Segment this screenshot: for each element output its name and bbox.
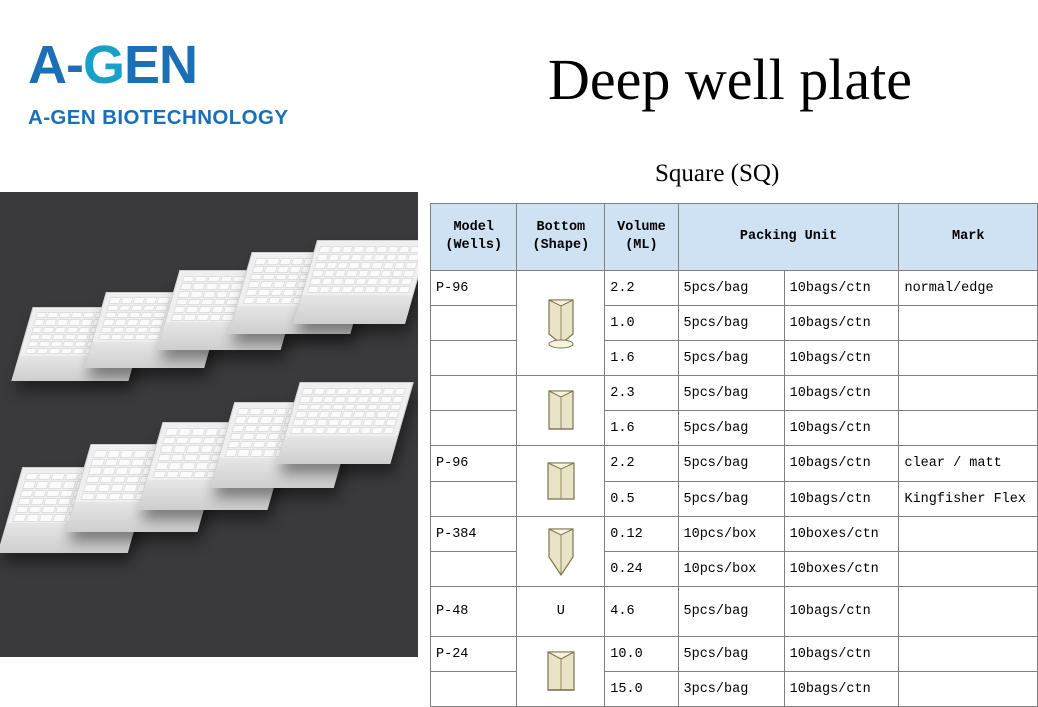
cell-packing-secondary: 10bags/ctn — [784, 306, 899, 341]
cell-volume: 2.2 — [605, 271, 678, 306]
cell-bottom-shape — [517, 637, 605, 707]
table-row: P-962.25pcs/bag10bags/ctnclear / matt — [431, 446, 1038, 482]
column-header-volume: Volume (ML) — [605, 204, 678, 271]
cell-packing-secondary: 10bags/ctn — [784, 341, 899, 376]
cell-mark: clear / matt — [899, 446, 1038, 482]
table-row: P-2410.05pcs/bag10bags/ctn — [431, 637, 1038, 672]
specification-table: Model (Wells) Bottom (Shape) Volume (ML)… — [430, 203, 1038, 707]
cell-packing-primary: 5pcs/bag — [678, 411, 784, 446]
cell-packing-secondary: 10boxes/ctn — [784, 517, 899, 552]
table-header-row: Model (Wells) Bottom (Shape) Volume (ML)… — [431, 204, 1038, 271]
cell-packing-secondary: 10bags/ctn — [784, 637, 899, 672]
cell-bottom-shape — [517, 376, 605, 446]
cell-mark — [899, 341, 1038, 376]
cell-mark — [899, 306, 1038, 341]
cell-model — [431, 672, 517, 707]
cell-model — [431, 306, 517, 341]
cell-model: P-48 — [431, 587, 517, 637]
cell-packing-primary: 10pcs/box — [678, 552, 784, 587]
page-subtitle: Square (SQ) — [655, 160, 779, 188]
column-header-packing-unit: Packing Unit — [678, 204, 899, 271]
logo-letters-en: EN — [124, 35, 197, 95]
cell-bottom-shape — [517, 446, 605, 517]
cell-packing-secondary: 10bags/ctn — [784, 482, 899, 517]
cell-bottom-shape — [517, 271, 605, 376]
cell-volume: 1.0 — [605, 306, 678, 341]
cell-mark — [899, 587, 1038, 637]
cell-model — [431, 482, 517, 517]
plate-wells — [307, 246, 418, 294]
cell-bottom-shape-u: U — [517, 587, 605, 637]
logo-subtitle: A-GEN BIOTECHNOLOGY — [28, 106, 358, 130]
plate-skirt — [278, 436, 398, 463]
column-header-volume-line1: Volume — [610, 219, 672, 237]
cell-packing-primary: 5pcs/bag — [678, 587, 784, 637]
cell-packing-secondary: 10bags/ctn — [784, 271, 899, 306]
square-tall-icon — [540, 644, 582, 700]
square-clear-icon — [540, 455, 582, 507]
cell-volume: 1.6 — [605, 411, 678, 446]
column-header-model-line2: (Wells) — [436, 237, 511, 255]
cell-mark — [899, 672, 1038, 707]
table-header: Model (Wells) Bottom (Shape) Volume (ML)… — [431, 204, 1038, 271]
cell-packing-primary: 5pcs/bag — [678, 306, 784, 341]
cell-model: P-384 — [431, 517, 517, 552]
cell-packing-secondary: 10bags/ctn — [784, 411, 899, 446]
square-flat-icon — [541, 385, 581, 437]
table-row: P-48U4.65pcs/bag10bags/ctn — [431, 587, 1038, 637]
cell-volume: 15.0 — [605, 672, 678, 707]
cell-mark — [899, 517, 1038, 552]
cell-volume: 10.0 — [605, 637, 678, 672]
square-v-icon — [542, 523, 580, 581]
cell-packing-primary: 5pcs/bag — [678, 446, 784, 482]
logo-dash: - — [66, 35, 83, 95]
cell-volume: 2.2 — [605, 446, 678, 482]
cell-volume: 2.3 — [605, 376, 678, 411]
cell-packing-secondary: 10bags/ctn — [784, 376, 899, 411]
cell-mark — [899, 411, 1038, 446]
column-header-model-line1: Model — [436, 219, 511, 237]
table-body: P-962.25pcs/bag10bags/ctnnormal/edge1.05… — [431, 271, 1038, 707]
cell-bottom-shape — [517, 517, 605, 587]
column-header-mark: Mark — [899, 204, 1038, 271]
plate-wells — [290, 388, 406, 434]
cell-packing-secondary: 10bags/ctn — [784, 446, 899, 482]
logo-letter-g: G — [83, 35, 124, 95]
cell-model — [431, 552, 517, 587]
product-photo — [0, 192, 418, 657]
table-row: P-3840.1210pcs/box10boxes/ctn — [431, 517, 1038, 552]
column-header-bottom-line2: (Shape) — [522, 237, 599, 255]
table-row: P-962.25pcs/bag10bags/ctnnormal/edge — [431, 271, 1038, 306]
cell-volume: 0.24 — [605, 552, 678, 587]
column-header-volume-line2: (ML) — [610, 237, 672, 255]
cell-packing-secondary: 10bags/ctn — [784, 587, 899, 637]
cell-packing-primary: 5pcs/bag — [678, 482, 784, 517]
cell-mark — [899, 552, 1038, 587]
cell-mark — [899, 376, 1038, 411]
cell-model — [431, 411, 517, 446]
plate-skirt — [294, 295, 412, 323]
table-row: 2.35pcs/bag10bags/ctn — [431, 376, 1038, 411]
cell-packing-secondary: 10bags/ctn — [784, 672, 899, 707]
cell-volume: 0.12 — [605, 517, 678, 552]
square-bottom-icon — [541, 294, 581, 352]
cell-volume: 0.5 — [605, 482, 678, 517]
cell-packing-primary: 5pcs/bag — [678, 376, 784, 411]
cell-mark: Kingfisher Flex — [899, 482, 1038, 517]
cell-model — [431, 376, 517, 411]
product-plate — [276, 382, 414, 464]
cell-mark — [899, 637, 1038, 672]
cell-packing-primary: 5pcs/bag — [678, 341, 784, 376]
cell-mark: normal/edge — [899, 271, 1038, 306]
column-header-bottom-line1: Bottom — [522, 219, 599, 237]
cell-packing-secondary: 10boxes/ctn — [784, 552, 899, 587]
column-header-bottom: Bottom (Shape) — [517, 204, 605, 271]
cell-packing-primary: 5pcs/bag — [678, 271, 784, 306]
cell-model: P-96 — [431, 446, 517, 482]
logo-wordmark: A-GEN — [28, 38, 358, 92]
cell-volume: 4.6 — [605, 587, 678, 637]
cell-packing-primary: 10pcs/box — [678, 517, 784, 552]
cell-packing-primary: 3pcs/bag — [678, 672, 784, 707]
company-logo: A-GEN A-GEN BIOTECHNOLOGY — [28, 38, 358, 148]
column-header-model: Model (Wells) — [431, 204, 517, 271]
cell-model — [431, 341, 517, 376]
page-title: Deep well plate — [548, 46, 912, 113]
logo-letter-a: A — [28, 35, 66, 95]
cell-packing-primary: 5pcs/bag — [678, 637, 784, 672]
cell-volume: 1.6 — [605, 341, 678, 376]
cell-model: P-96 — [431, 271, 517, 306]
cell-model: P-24 — [431, 637, 517, 672]
